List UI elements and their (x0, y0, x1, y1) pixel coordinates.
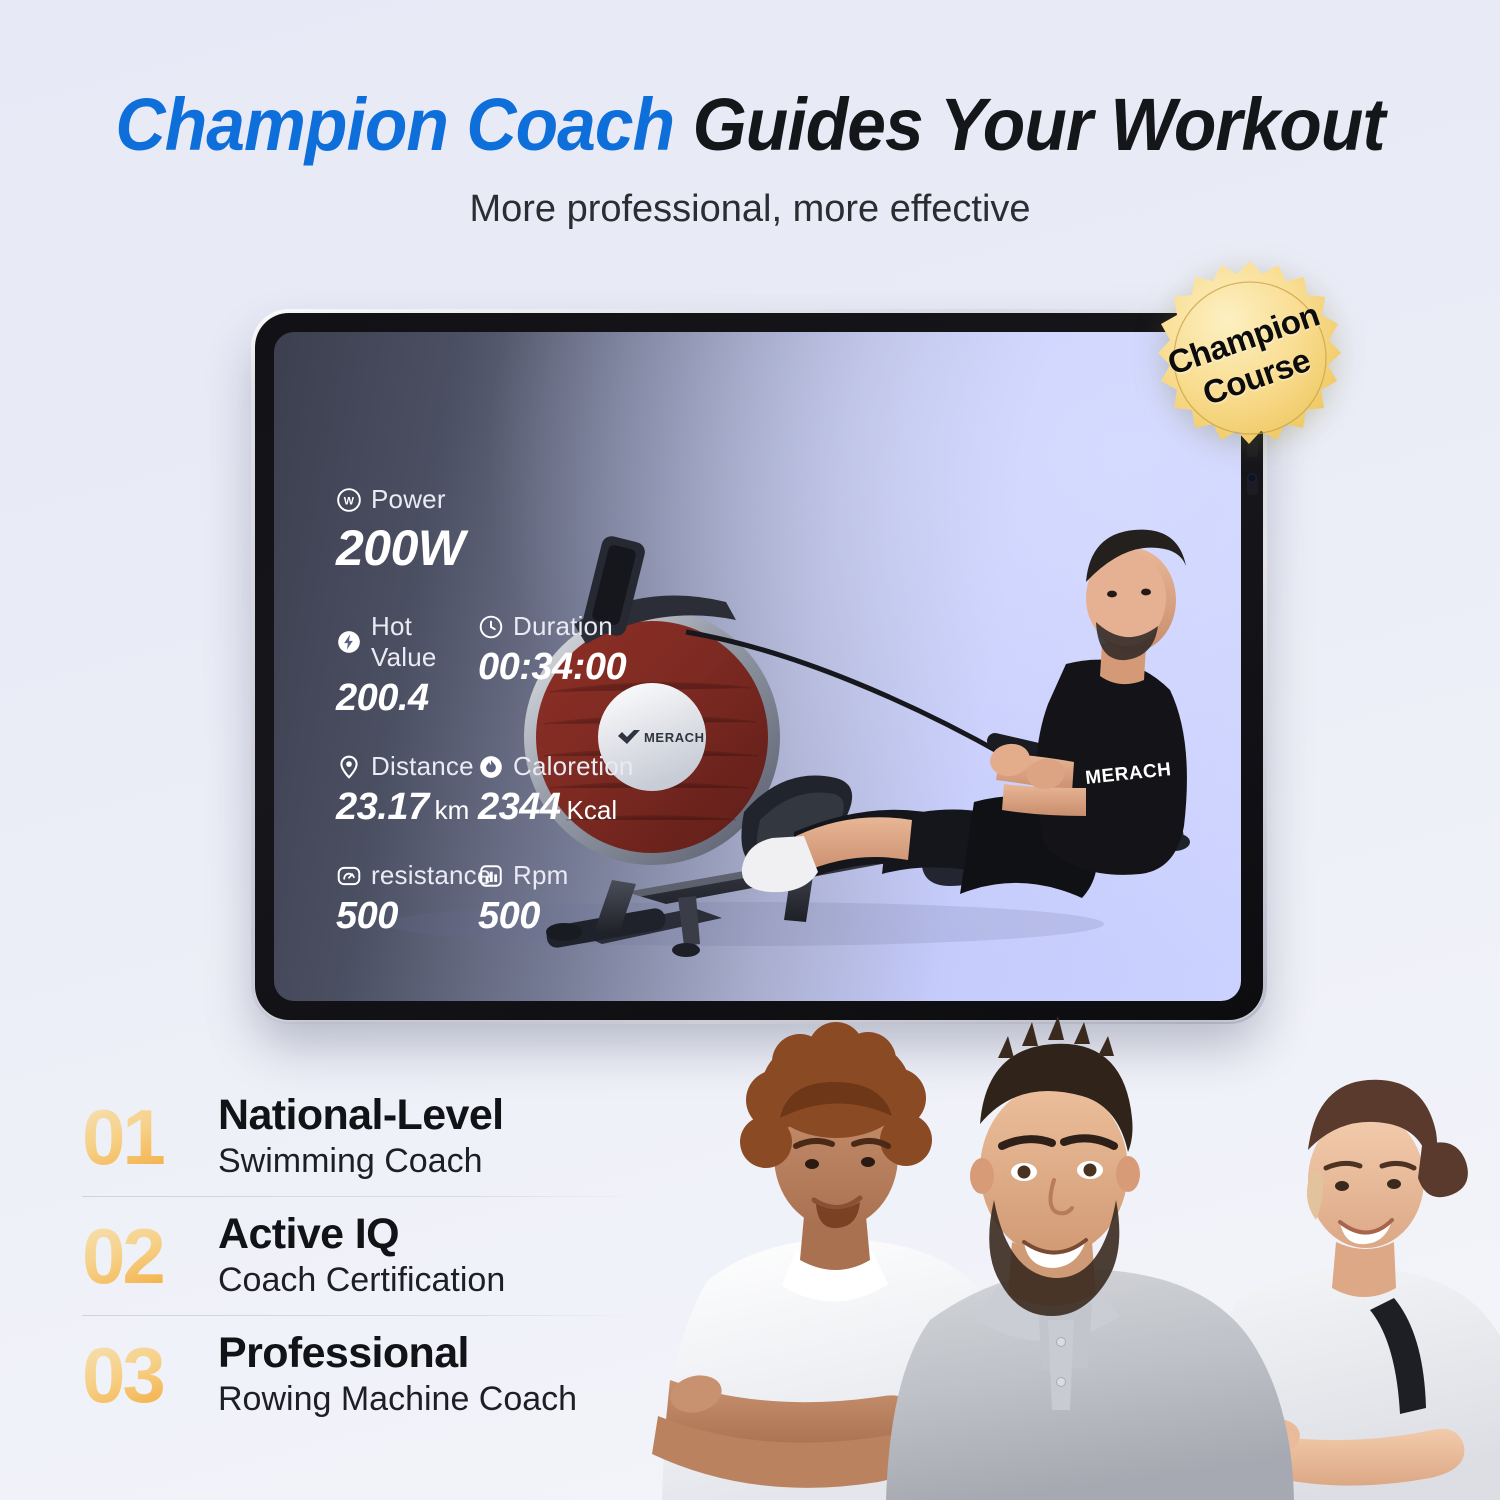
page-title-highlight: Champion Coach (115, 83, 674, 166)
credentials-list: 01 National-Level Swimming Coach 02 Acti… (82, 1078, 642, 1434)
power-watt-icon: W (336, 487, 362, 513)
credential-number-01: 01 (82, 1098, 202, 1176)
stat-duration-label: Duration (513, 611, 613, 642)
stat-hot-value-value: 200.4 (336, 677, 478, 720)
credential-subtitle-02: Coach Certification (218, 1260, 505, 1301)
flywheel-brand-logo: MERACH (644, 730, 705, 745)
credential-subtitle-01: Swimming Coach (218, 1141, 504, 1182)
stat-resistance-label: resistance (371, 860, 492, 891)
stat-resistance-value: 500 (336, 895, 478, 938)
credential-item-03: 03 Professional Rowing Machine Coach (82, 1316, 642, 1434)
stat-distance-label: Distance (371, 751, 474, 782)
athlete-figure: MERACH (742, 530, 1187, 898)
page-title: Champion Coach Guides Your Workout (45, 86, 1455, 164)
stat-distance-number: 23.17 (336, 786, 429, 828)
stat-distance-unit: km (435, 795, 470, 825)
credential-title-03: Professional (218, 1330, 577, 1376)
credential-item-02: 02 Active IQ Coach Certification (82, 1197, 642, 1315)
stat-duration: Duration 00:34:00 (478, 611, 638, 720)
stat-resistance: resistance 500 (336, 860, 478, 938)
stat-calories-unit: Kcal (567, 795, 618, 825)
champion-course-badge: Champion Course (1150, 258, 1350, 458)
credential-item-01: 01 National-Level Swimming Coach (82, 1078, 642, 1196)
page-subtitle: More professional, more effective (0, 188, 1500, 231)
stat-distance: Distance 23.17km (336, 751, 478, 829)
tablet-camera-icon (1247, 473, 1257, 483)
credential-number-03: 03 (82, 1336, 202, 1414)
credential-title-01: National-Level (218, 1092, 504, 1138)
credential-number-02: 02 (82, 1217, 202, 1295)
coach-center (886, 1016, 1294, 1500)
stat-calories-value: 2344Kcal (478, 786, 638, 829)
page-title-rest: Guides Your Workout (693, 83, 1385, 166)
stat-calories-label: Caloretion (513, 751, 634, 782)
workout-stats-panel: W Power 200W Hot Value 200.4 (336, 484, 638, 938)
credential-subtitle-03: Rowing Machine Coach (218, 1379, 577, 1420)
coaches-group-photo (600, 850, 1500, 1500)
stat-calories-number: 2344 (478, 786, 561, 828)
stat-power-value: 200W (336, 519, 638, 577)
stat-power-label: Power (371, 484, 446, 515)
credential-title-02: Active IQ (218, 1211, 505, 1257)
stat-hot-value: Hot Value 200.4 (336, 611, 478, 720)
stat-rpm-label: Rpm (513, 860, 569, 891)
stat-duration-value: 00:34:00 (478, 646, 638, 689)
bolt-circle-icon (336, 629, 362, 655)
stat-power: W Power 200W (336, 484, 638, 577)
bar-chart-icon (478, 863, 504, 889)
stopwatch-icon (478, 614, 504, 640)
stat-distance-value: 23.17km (336, 786, 478, 829)
flame-circle-icon (478, 754, 504, 780)
location-pin-icon (336, 754, 362, 780)
gauge-icon (336, 863, 362, 889)
svg-text:W: W (344, 495, 355, 507)
stat-calories: Caloretion 2344Kcal (478, 751, 638, 829)
stat-hot-value-label: Hot Value (371, 611, 478, 673)
